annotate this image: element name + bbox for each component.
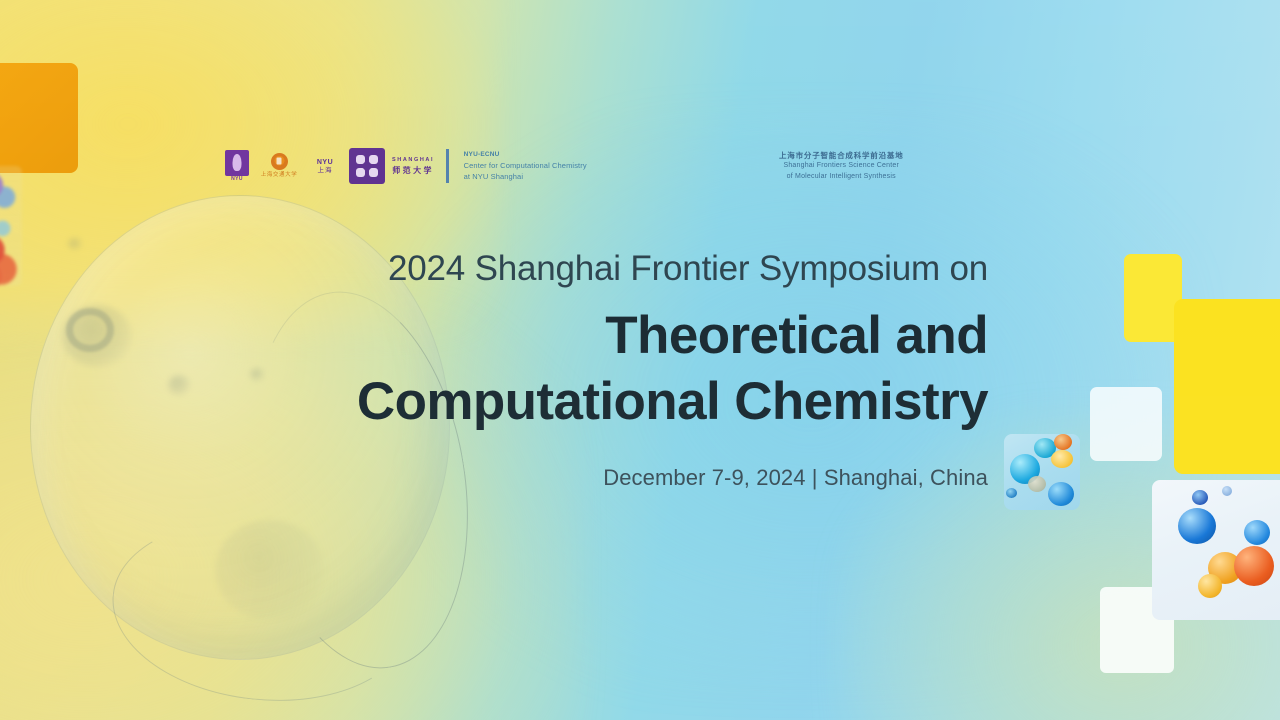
- center-name-right-chinese: 上海市分子智能合成科学前沿基地: [779, 150, 904, 161]
- orange-square-decoration: [0, 63, 78, 173]
- white-square-upper-decoration: [1090, 387, 1162, 461]
- sjtu-logo-caption: 上海交通大学: [261, 172, 298, 179]
- atom-sphere: [1006, 488, 1017, 498]
- yellow-square-large-decoration: [1174, 299, 1280, 474]
- nyu-shanghai-logo-line2: 上海: [318, 167, 333, 175]
- atom-sphere: [1192, 490, 1208, 505]
- molecule-thumbnail-upper: [1004, 434, 1080, 510]
- molecule-thumbnail-lower: [1152, 480, 1280, 620]
- shnu-logo-line1: SHANGHAI: [392, 157, 434, 164]
- logo-divider: [446, 149, 449, 183]
- sjtu-logo-icon: 上海交通大学: [257, 149, 301, 183]
- nyu-logo-icon: NYU: [224, 149, 250, 183]
- center-name-left-line3: at NYU Shanghai: [464, 171, 587, 182]
- logo-bar: NYU 上海交通大学 NYU 上海 SHANGHAI 师范大学 NYU-ECNU…: [224, 148, 587, 184]
- center-name-right-line2: of Molecular Intelligent Synthesis: [787, 172, 896, 183]
- center-name-right: 上海市分子智能合成科学前沿基地 Shanghai Frontiers Scien…: [779, 150, 904, 182]
- shnu-logo-icon: SHANGHAI 师范大学: [392, 157, 434, 175]
- atom-sphere: [1028, 476, 1046, 492]
- atom-sphere: [1222, 486, 1232, 496]
- event-headline-line2: Computational Chemistry: [0, 369, 988, 435]
- atom-sphere: [1244, 520, 1270, 545]
- nyu-shanghai-logo-icon: NYU 上海: [308, 150, 342, 182]
- atom-sphere: [1198, 574, 1222, 598]
- center-name-left-line1: NYU-ECNU: [464, 150, 587, 160]
- sjtu-seal-icon: [271, 153, 288, 170]
- event-headline: Theoretical and Computational Chemistry: [0, 303, 988, 435]
- nyu-torch-icon: [225, 150, 249, 176]
- atom-sphere: [1048, 482, 1074, 506]
- event-kicker: 2024 Shanghai Frontier Symposium on: [0, 247, 988, 291]
- event-date-location: December 7-9, 2024 | Shanghai, China: [0, 463, 988, 493]
- shnu-logo-line2: 师范大学: [392, 166, 434, 175]
- atom-sphere: [1054, 434, 1072, 450]
- atom-sphere: [1234, 546, 1274, 586]
- title-block: 2024 Shanghai Frontier Symposium on Theo…: [0, 247, 988, 493]
- atom-sphere: [1051, 450, 1073, 468]
- atom-sphere: [1178, 508, 1216, 544]
- symposium-poster: NYU 上海交通大学 NYU 上海 SHANGHAI 师范大学 NYU-ECNU…: [0, 0, 1280, 720]
- center-name-left-line2: Center for Computational Chemistry: [464, 160, 587, 171]
- center-name-right-line1: Shanghai Frontiers Science Center: [783, 161, 899, 172]
- center-name-left: NYU-ECNU Center for Computational Chemis…: [464, 150, 587, 182]
- nyu-logo-caption: NYU: [231, 176, 243, 183]
- ecnu-logo-icon: [349, 148, 385, 184]
- event-headline-line1: Theoretical and: [605, 306, 988, 365]
- bubble-spot-decoration: [215, 520, 325, 620]
- nyu-shanghai-logo-line1: NYU: [317, 158, 333, 167]
